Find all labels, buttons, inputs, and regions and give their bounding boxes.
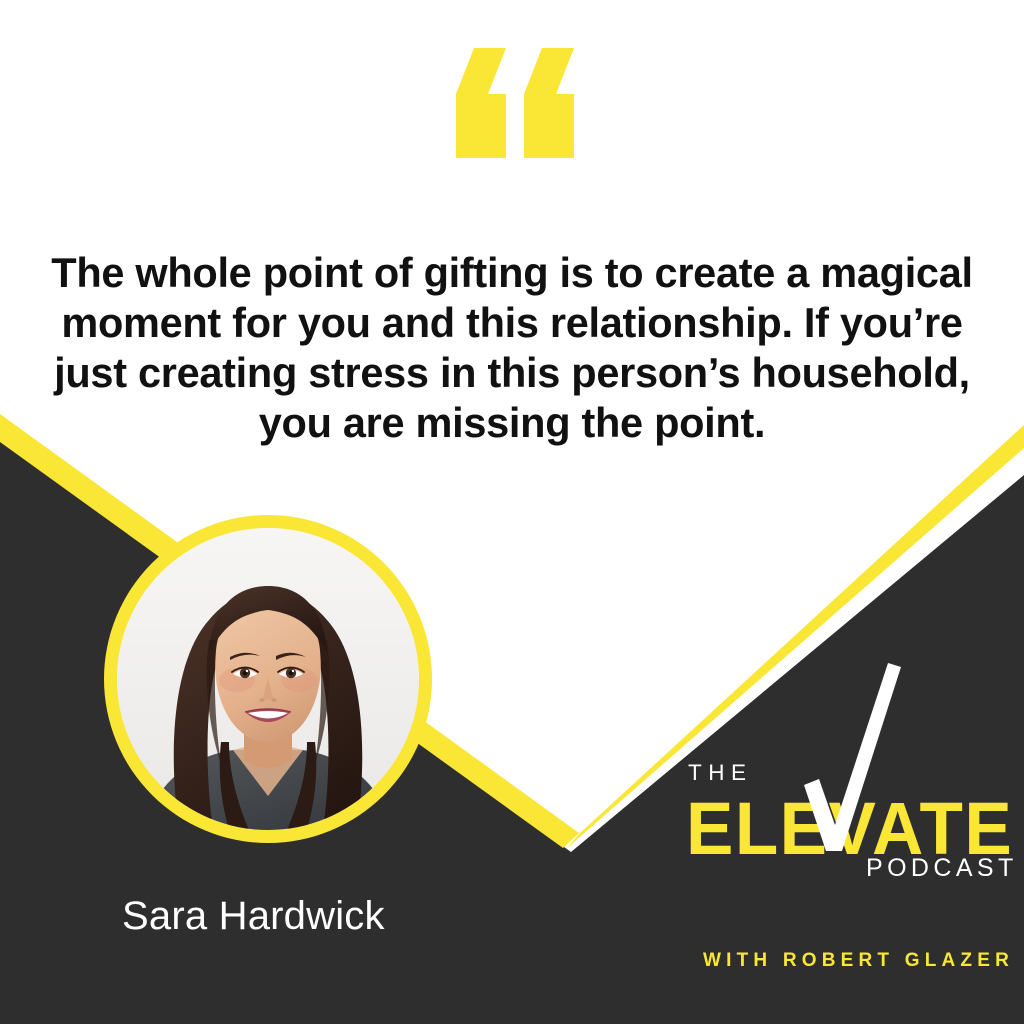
double-quote-icon [440,48,590,158]
logo-podcast-text: PODCAST [866,856,1018,881]
elevate-podcast-logo: THE ELEVATE PODCAST [686,660,986,900]
guest-avatar-ring [104,515,432,843]
podcast-quote-card: The whole point of gifting is to create … [0,0,1024,1024]
quote-text: The whole point of gifting is to create … [28,248,996,448]
host-tagline: WITH ROBERT GLAZER [703,950,1014,972]
logo-the-text: THE [688,762,753,785]
avatar [117,528,419,830]
guest-name: Sara Hardwick [122,894,385,939]
guest-headshot-image [117,528,419,830]
